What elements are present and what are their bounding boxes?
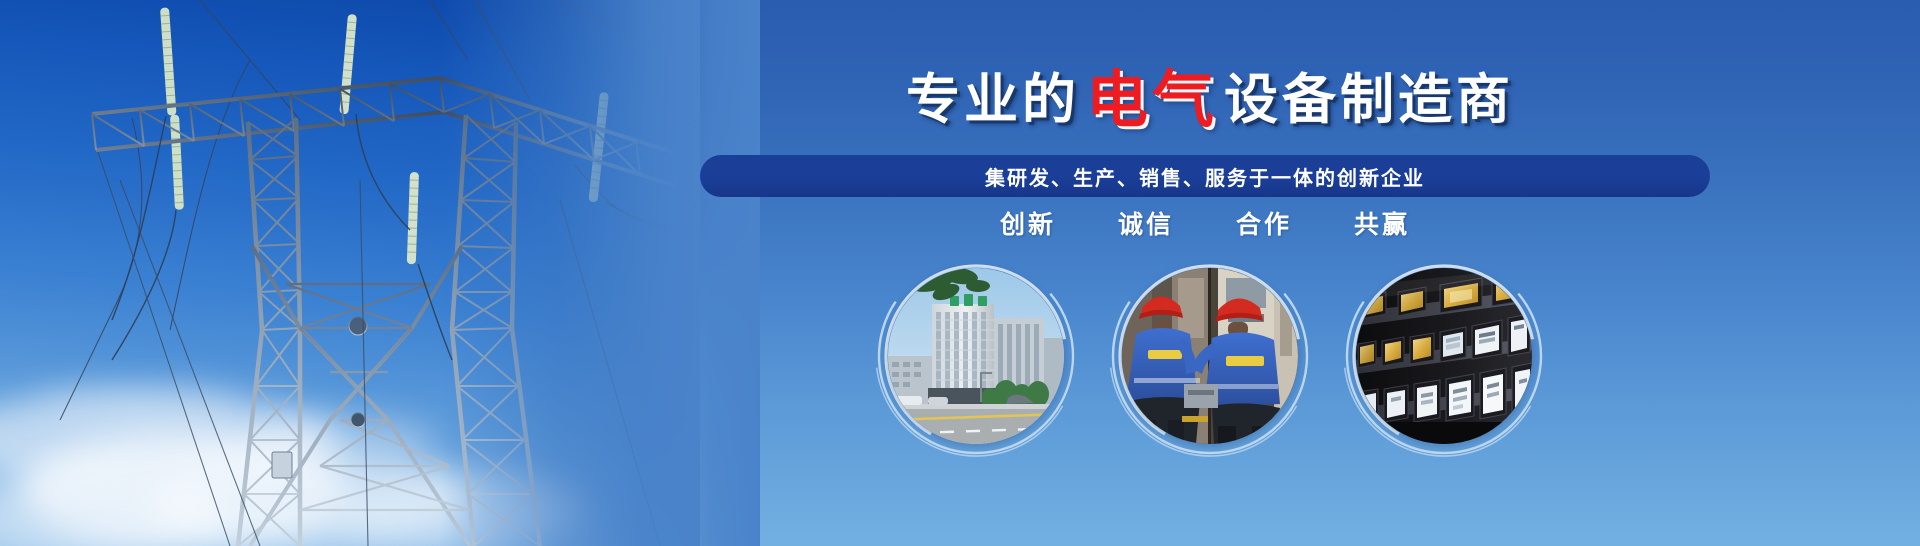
tagline-text: 集研发、生产、销售、服务于一体的创新企业 (985, 162, 1425, 191)
headline-part-1: 专业的 (906, 73, 1080, 127)
keyword-row: 创新 诚信 合作 共赢 (700, 205, 1710, 241)
circle-item (1112, 258, 1308, 454)
banner-content: 专业的电气设备制造商 集研发、生产、销售、服务于一体的创新企业 创新 诚信 合作… (660, 0, 1920, 546)
office-building-photo (888, 268, 1064, 444)
transmission-tower-photo (0, 0, 700, 546)
keyword-cooperation: 合作 (1236, 205, 1292, 241)
circle-item (878, 258, 1074, 454)
circle-photo-row (660, 258, 1760, 538)
headline-part-3: 设备制造商 (1224, 73, 1514, 127)
promo-banner: 专业的电气设备制造商 集研发、生产、销售、服务于一体的创新企业 创新 诚信 合作… (0, 0, 1920, 546)
page-title: 专业的电气设备制造商 (660, 70, 1760, 132)
tagline-pill: 集研发、生产、销售、服务于一体的创新企业 (700, 155, 1710, 197)
technicians-photo (1122, 268, 1298, 444)
keyword-innovation: 创新 (1000, 205, 1056, 241)
keyword-integrity: 诚信 (1118, 205, 1174, 241)
certificates-wall-photo (1356, 268, 1532, 444)
circle-item (1346, 258, 1542, 454)
keyword-winwin: 共赢 (1354, 205, 1410, 241)
headline-accent: 电气 (1080, 70, 1224, 132)
